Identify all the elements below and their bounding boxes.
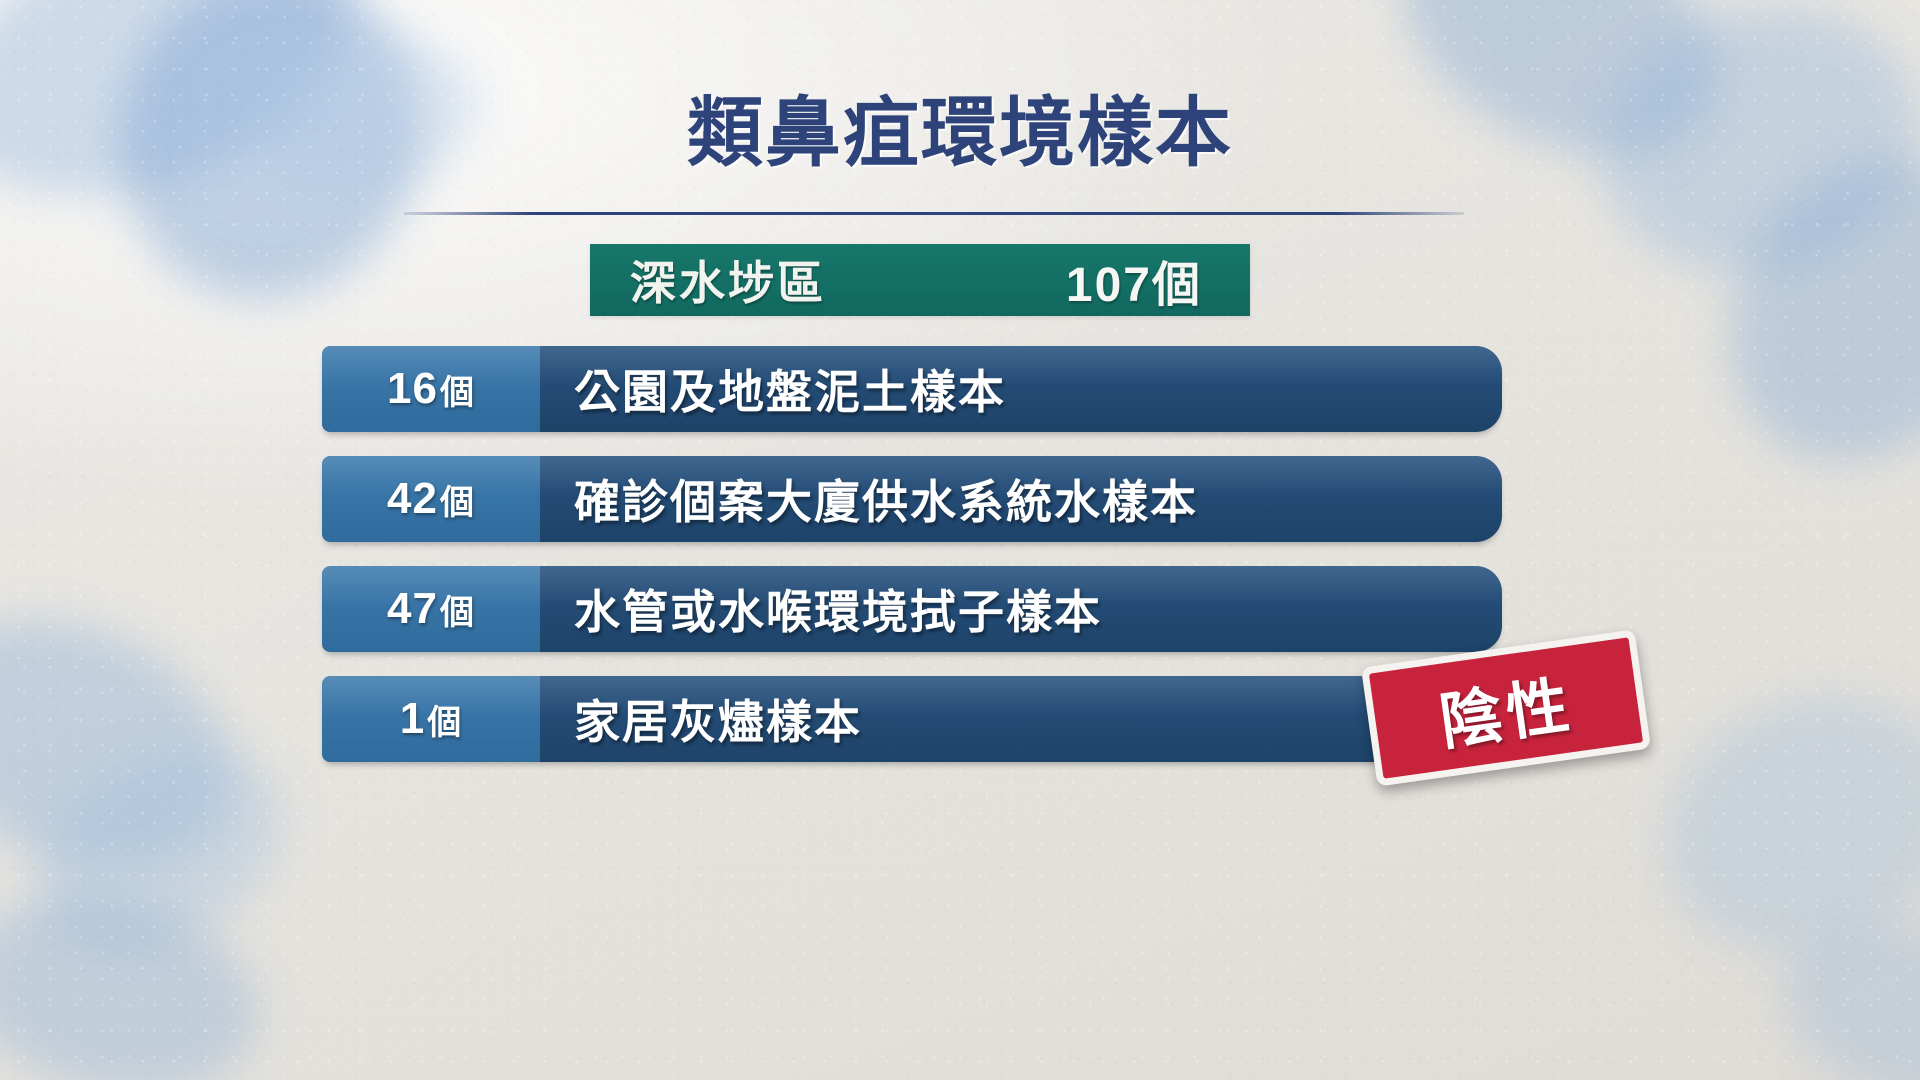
sample-row-count: 16個 — [322, 346, 540, 432]
infographic-content: 類鼻疽環境樣本 深水埗區 107個 16個公園及地盤泥土樣本42個確診個案大廈供… — [0, 0, 1920, 1080]
sample-row-label: 水管或水喉環境拭子樣本 — [540, 566, 1502, 652]
page-title: 類鼻疽環境樣本 — [0, 96, 1920, 172]
status-badge-label: 陰性 — [1433, 654, 1578, 762]
sample-row: 47個水管或水喉環境拭子樣本 — [322, 566, 1502, 652]
sample-row-count-number: 42 — [387, 474, 438, 524]
sample-row: 42個確診個案大廈供水系統水樣本 — [322, 456, 1502, 542]
sample-row-count: 42個 — [322, 456, 540, 542]
sample-row-count: 1個 — [322, 676, 540, 762]
district-total-count: 107個 — [1066, 245, 1202, 315]
sample-row-count-number: 47 — [387, 584, 438, 634]
sample-row-label: 家居灰燼樣本 — [540, 676, 1502, 762]
sample-row-label: 確診個案大廈供水系統水樣本 — [540, 456, 1502, 542]
sample-row-count-number: 16 — [387, 364, 438, 414]
sample-row-count: 47個 — [322, 566, 540, 652]
sample-row-count-unit: 個 — [440, 475, 475, 524]
sample-row-count-unit: 個 — [427, 695, 462, 744]
sample-breakdown-list: 16個公園及地盤泥土樣本42個確診個案大廈供水系統水樣本47個水管或水喉環境拭子… — [322, 346, 1502, 786]
sample-row: 16個公園及地盤泥土樣本 — [322, 346, 1502, 432]
district-name: 深水埗區 — [630, 247, 826, 313]
sample-row-count-unit: 個 — [440, 585, 475, 634]
sample-row-count-unit: 個 — [440, 365, 475, 414]
sample-row: 1個家居灰燼樣本 — [322, 676, 1502, 762]
sample-row-label: 公園及地盤泥土樣本 — [540, 346, 1502, 432]
sample-row-count-number: 1 — [400, 694, 425, 744]
title-divider — [404, 212, 1464, 215]
district-summary-banner: 深水埗區 107個 — [590, 244, 1250, 316]
